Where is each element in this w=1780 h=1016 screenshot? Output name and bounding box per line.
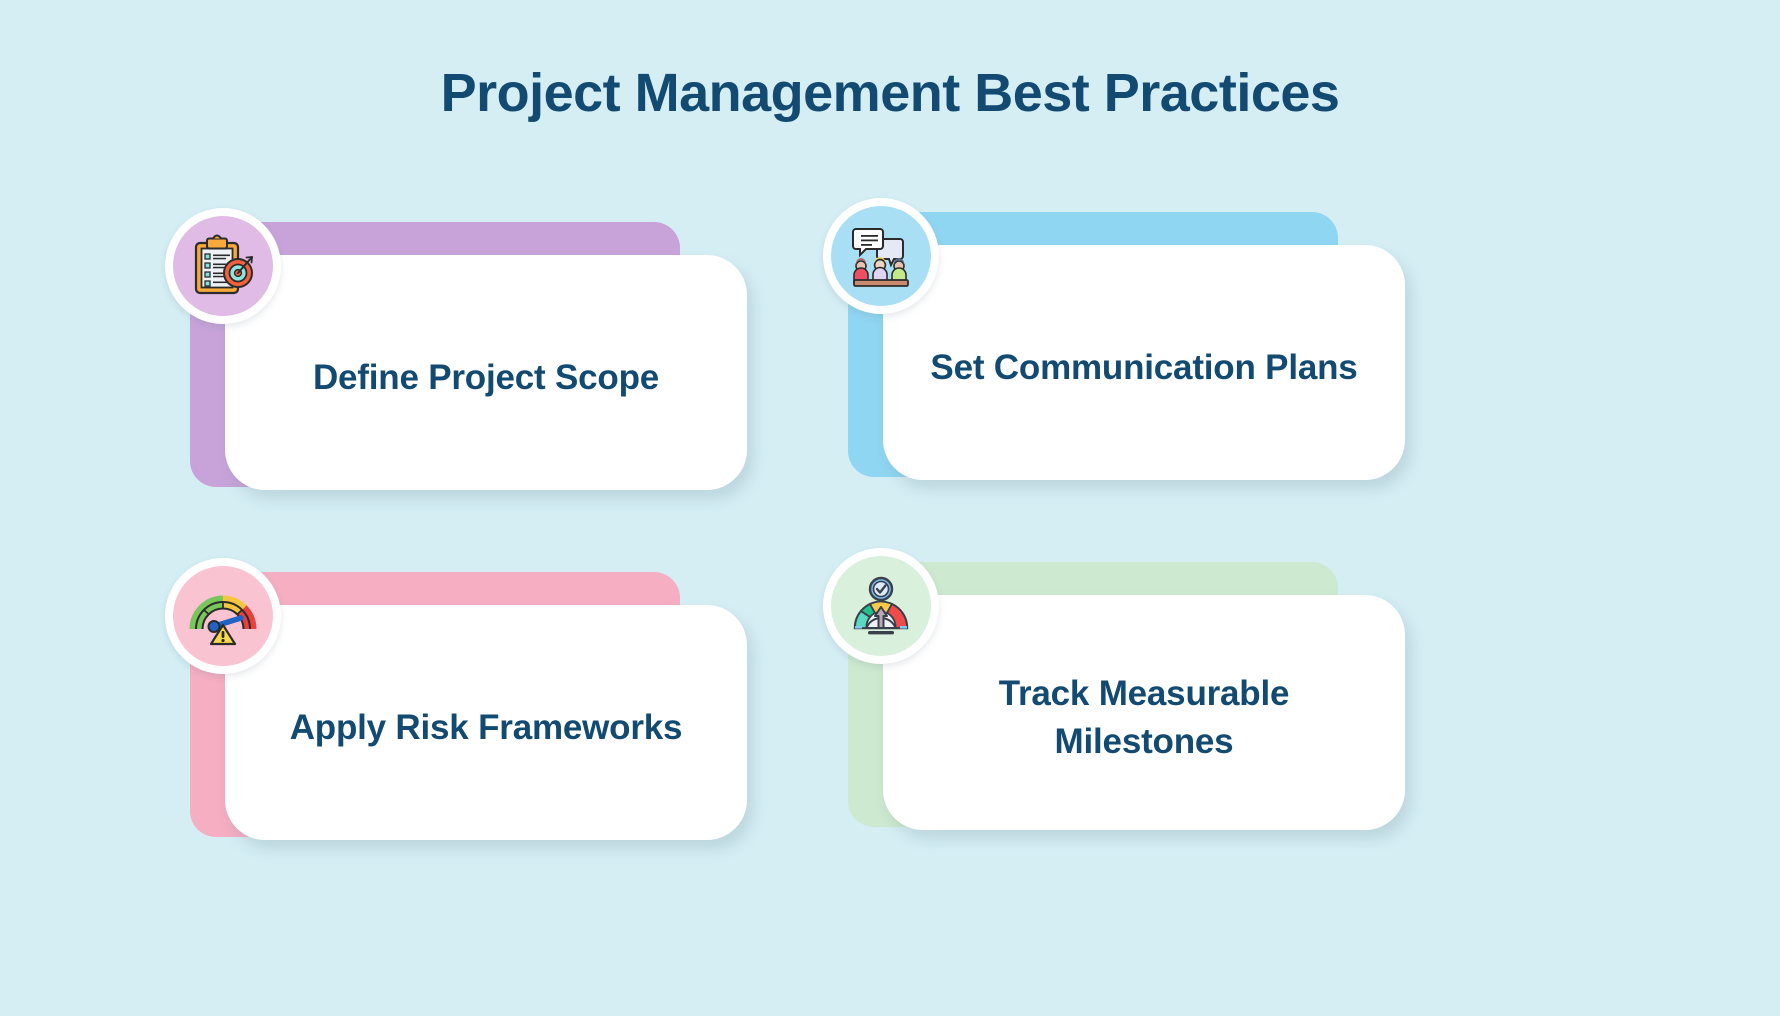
icon-disc-1 [831,206,931,306]
card-set-communication-plans[interactable]: Set Communication Plans [823,190,1463,490]
card-body-3[interactable]: Track Measurable Milestones [883,595,1405,830]
icon-disc-3 [831,556,931,656]
team-meeting-chat-icon [846,221,916,291]
card-body-2[interactable]: Apply Risk Frameworks [225,605,747,840]
card-apply-risk-frameworks[interactable]: Apply Risk Frameworks [165,550,805,850]
card-track-measurable-milestones[interactable]: Track Measurable Milestones [823,540,1463,840]
card-label-1: Set Communication Plans [930,344,1357,392]
card-body-1[interactable]: Set Communication Plans [883,245,1405,480]
card-body-0[interactable]: Define Project Scope [225,255,747,490]
icon-disc-0 [173,216,273,316]
clipboard-target-icon [188,231,258,301]
card-define-project-scope[interactable]: Define Project Scope [165,200,805,500]
infographic-page: Project Management Best Practices Define… [0,0,1780,1016]
card-label-3: Track Measurable Milestones [917,670,1371,766]
icon-bubble-0 [165,208,281,324]
icon-bubble-1 [823,198,939,314]
icon-disc-2 [173,566,273,666]
icon-bubble-3 [823,548,939,664]
risk-gauge-warning-icon [188,581,258,651]
icon-bubble-2 [165,558,281,674]
card-label-2: Apply Risk Frameworks [290,704,683,752]
card-label-0: Define Project Scope [313,354,659,402]
cards-grid: Define Project Scope [0,0,1780,1016]
milestone-meter-check-icon [846,571,916,641]
